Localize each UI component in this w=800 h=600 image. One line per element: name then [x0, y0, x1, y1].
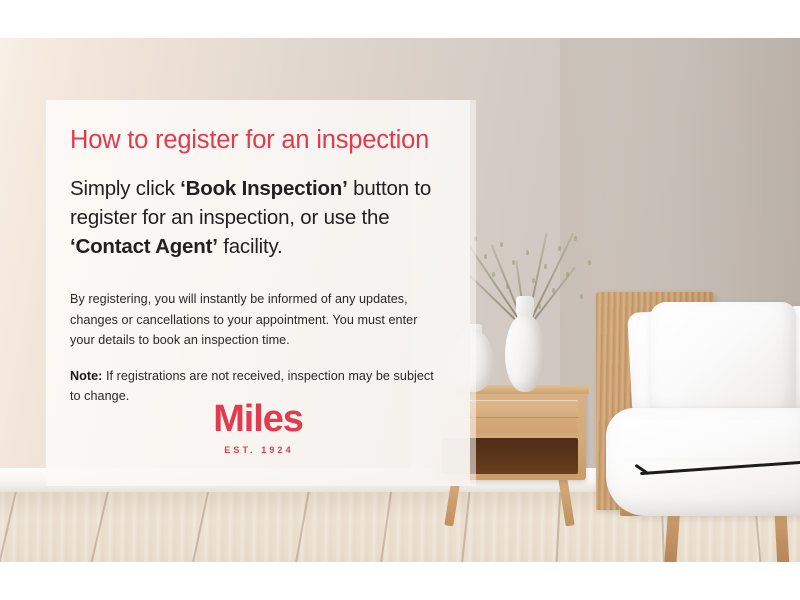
letterbox-top — [0, 0, 800, 38]
leaf — [526, 250, 529, 255]
leaf — [500, 242, 503, 247]
leaf — [558, 246, 561, 251]
note-label: Note: — [70, 369, 102, 383]
instruction-text: Simply click ‘Book Inspection’ button to… — [70, 175, 442, 261]
bed-leg — [664, 514, 680, 562]
leaf — [588, 260, 591, 265]
leaf — [544, 264, 547, 269]
registration-info-paragraph: By registering, you will instantly be in… — [70, 289, 442, 350]
bed — [596, 282, 800, 562]
logo-established: EST. 1924 — [48, 445, 470, 455]
poster-canvas: How to register for an inspection Simply… — [0, 0, 800, 600]
room-photo: How to register for an inspection Simply… — [0, 38, 800, 562]
leaf — [574, 236, 577, 241]
instruction-lead-1: Simply click — [70, 177, 180, 200]
leaf — [566, 272, 569, 277]
leaf — [484, 254, 487, 259]
letterbox-bottom — [0, 562, 800, 600]
leaf — [492, 272, 495, 277]
page-title: How to register for an inspection — [70, 126, 442, 155]
book-inspection-label: ‘Book Inspection’ — [180, 177, 347, 200]
nightstand-leg — [558, 478, 574, 527]
info-panel-content: How to register for an inspection Simply… — [46, 100, 470, 406]
pillow — [650, 302, 796, 420]
brand-logo: Miles EST. 1924 — [46, 400, 470, 455]
logo-wordmark: Miles — [46, 400, 470, 438]
leaf — [580, 294, 583, 299]
instruction-lead-3: facility. — [218, 235, 283, 258]
bed-leg — [775, 514, 790, 562]
info-panel: How to register for an inspection Simply… — [46, 100, 470, 486]
vase-tall — [505, 314, 545, 392]
contact-agent-label: ‘Contact Agent’ — [70, 235, 218, 258]
